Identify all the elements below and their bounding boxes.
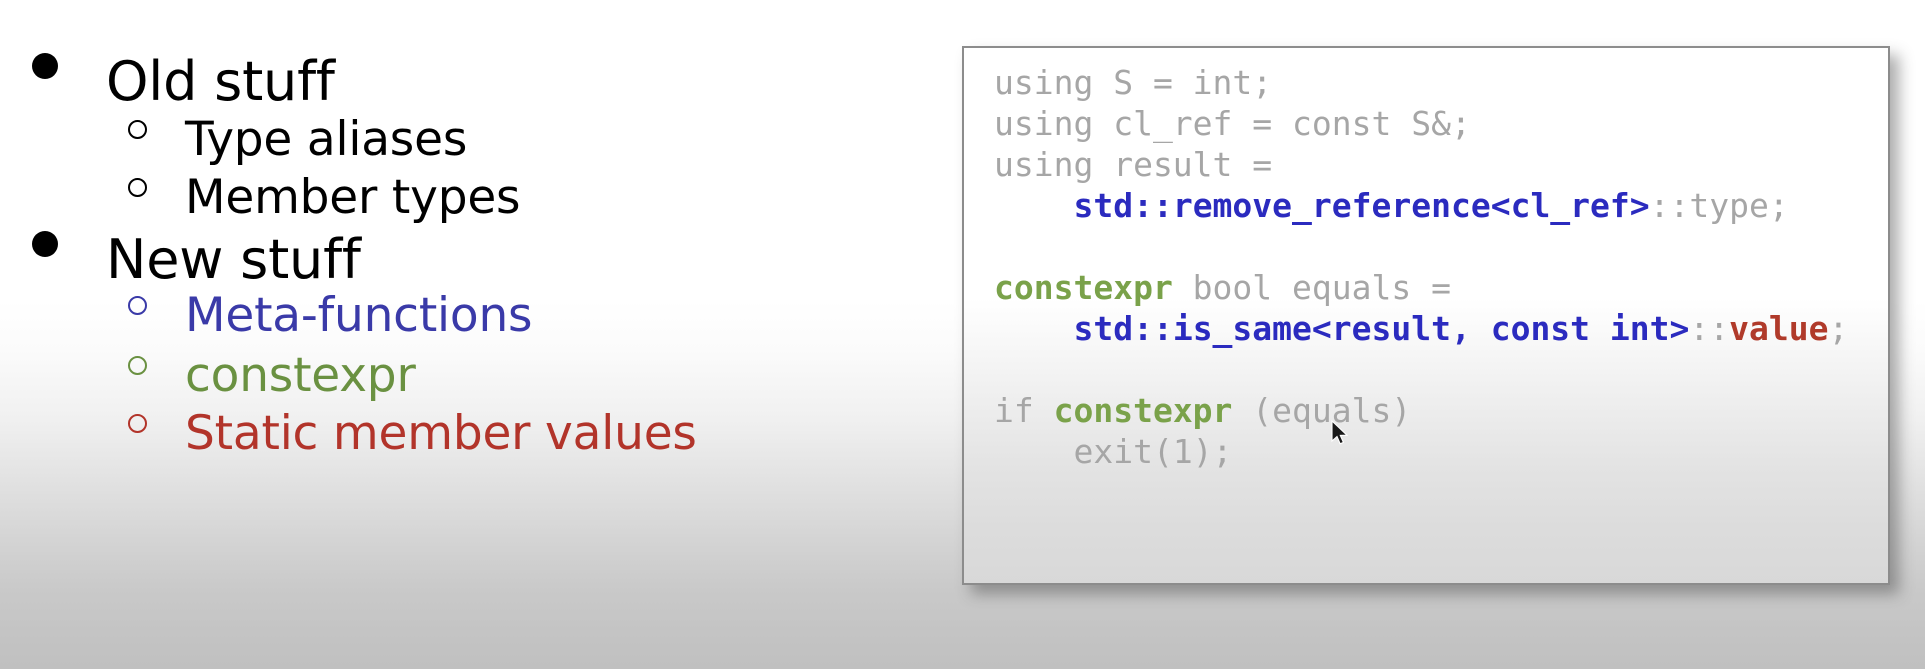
ring-bullet-icon bbox=[125, 312, 185, 331]
bullet-item-label: Meta-functions bbox=[185, 288, 532, 343]
disc-bullet-icon bbox=[28, 252, 106, 278]
code-token: (equals) bbox=[1232, 391, 1411, 430]
code-token: bool equals = bbox=[1173, 268, 1451, 307]
ring-bullet-icon bbox=[125, 136, 185, 155]
code-token: using S = int; bbox=[994, 63, 1272, 102]
code-token: std::remove_reference<cl_ref> bbox=[1073, 186, 1649, 225]
code-token: constexpr bbox=[1054, 391, 1233, 430]
disc-bullet-icon bbox=[28, 74, 106, 100]
code-line bbox=[994, 349, 1888, 390]
code-token: constexpr bbox=[994, 268, 1173, 307]
code-token: ::type; bbox=[1650, 186, 1789, 225]
code-line: exit(1); bbox=[994, 431, 1888, 472]
ring-bullet-icon bbox=[125, 194, 185, 213]
code-token: exit(1); bbox=[1073, 432, 1232, 471]
code-token: using cl_ref = const S&; bbox=[994, 104, 1471, 143]
presentation-slide: Old stuffType aliasesMember typesNew stu… bbox=[0, 0, 1925, 669]
ring-bullet-icon bbox=[125, 430, 185, 449]
code-line: using result = bbox=[994, 144, 1888, 185]
bullet-item-label: Static member values bbox=[185, 406, 697, 461]
code-token: if bbox=[994, 391, 1054, 430]
bullet-list: Old stuffType aliasesMember typesNew stu… bbox=[0, 0, 940, 669]
bullet-item-label: New stuff bbox=[106, 228, 361, 291]
code-line: std::is_same<result, const int>::value; bbox=[994, 308, 1888, 349]
bullet-item-label: Old stuff bbox=[106, 50, 335, 113]
bullet-item-level2: Meta-functions bbox=[125, 288, 532, 343]
code-line: std::remove_reference<cl_ref>::type; bbox=[994, 185, 1888, 226]
code-line: constexpr bool equals = bbox=[994, 267, 1888, 308]
code-line bbox=[994, 226, 1888, 267]
ring-bullet-icon bbox=[125, 372, 185, 391]
bullet-item-level1: New stuff bbox=[28, 228, 361, 291]
code-token: value bbox=[1729, 309, 1828, 348]
bullet-item-level2: Static member values bbox=[125, 406, 697, 461]
bullet-item-label: Member types bbox=[185, 170, 520, 225]
code-line: using S = int; bbox=[994, 62, 1888, 103]
code-token: ; bbox=[1828, 309, 1848, 348]
code-token: :: bbox=[1689, 309, 1729, 348]
bullet-item-level1: Old stuff bbox=[28, 50, 335, 113]
bullet-item-level2: Type aliases bbox=[125, 112, 467, 167]
code-token: using result = bbox=[994, 145, 1272, 184]
code-listing: using S = int;using cl_ref = const S&;us… bbox=[994, 62, 1888, 472]
bullet-item-label: constexpr bbox=[185, 348, 416, 403]
bullet-item-label: Type aliases bbox=[185, 112, 467, 167]
code-panel: using S = int;using cl_ref = const S&;us… bbox=[962, 46, 1890, 585]
code-line: using cl_ref = const S&; bbox=[994, 103, 1888, 144]
bullet-item-level2: constexpr bbox=[125, 348, 416, 403]
code-line: if constexpr (equals) bbox=[994, 390, 1888, 431]
code-token: std::is_same<result, const int> bbox=[1073, 309, 1689, 348]
bullet-item-level2: Member types bbox=[125, 170, 520, 225]
